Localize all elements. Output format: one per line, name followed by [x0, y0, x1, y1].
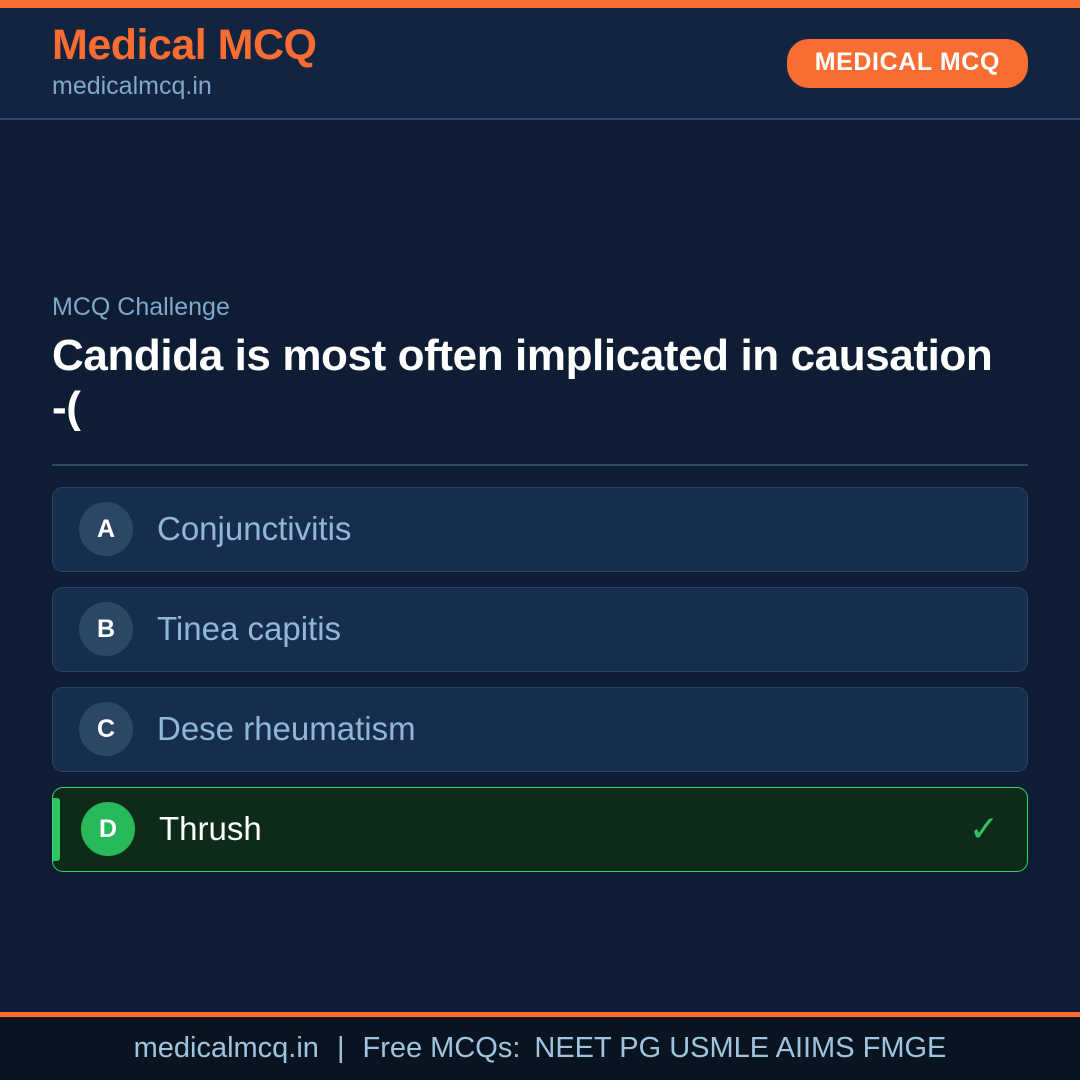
check-icon: ✓: [969, 811, 999, 847]
option-letter-badge: D: [81, 802, 135, 856]
question-eyebrow: MCQ Challenge: [52, 292, 1028, 322]
mcq-card: Medical MCQ medicalmcq.in MEDICAL MCQ MC…: [0, 0, 1080, 1080]
footer-site: medicalmcq.in: [134, 1034, 319, 1063]
option-label: Conjunctivitis: [157, 511, 351, 547]
option-d[interactable]: DThrush✓: [52, 787, 1028, 872]
options-list: AConjunctivitisBTinea capitisCDese rheum…: [52, 487, 1028, 872]
question-divider: [52, 464, 1028, 466]
main-content: MCQ Challenge Candida is most often impl…: [0, 120, 1080, 1012]
header: Medical MCQ medicalmcq.in MEDICAL MCQ: [0, 8, 1080, 120]
brand-title: Medical MCQ: [52, 23, 317, 68]
option-label: Dese rheumatism: [157, 711, 416, 747]
footer-label: Free MCQs:: [362, 1034, 520, 1063]
footer-exams: NEET PG USMLE AIIMS FMGE: [520, 1034, 946, 1063]
top-accent-bar: [0, 0, 1080, 8]
brand-subtitle: medicalmcq.in: [52, 71, 317, 101]
option-label: Tinea capitis: [157, 611, 341, 647]
footer-text: medicalmcq.in | Free MCQs: NEET PG USMLE…: [134, 1034, 947, 1063]
question-text: Candida is most often implicated in caus…: [52, 330, 1012, 434]
option-letter-badge: C: [79, 702, 133, 756]
question-block: MCQ Challenge Candida is most often impl…: [52, 292, 1028, 434]
footer-separator: |: [319, 1034, 363, 1063]
option-letter-badge: A: [79, 502, 133, 556]
option-a[interactable]: AConjunctivitis: [52, 487, 1028, 572]
correct-accent-bar: [53, 798, 60, 861]
footer: medicalmcq.in | Free MCQs: NEET PG USMLE…: [0, 1012, 1080, 1080]
option-letter-badge: B: [79, 602, 133, 656]
option-b[interactable]: BTinea capitis: [52, 587, 1028, 672]
option-label: Thrush: [159, 811, 262, 847]
brand-block: Medical MCQ medicalmcq.in: [52, 23, 317, 101]
option-c[interactable]: CDese rheumatism: [52, 687, 1028, 772]
header-badge: MEDICAL MCQ: [787, 39, 1028, 88]
